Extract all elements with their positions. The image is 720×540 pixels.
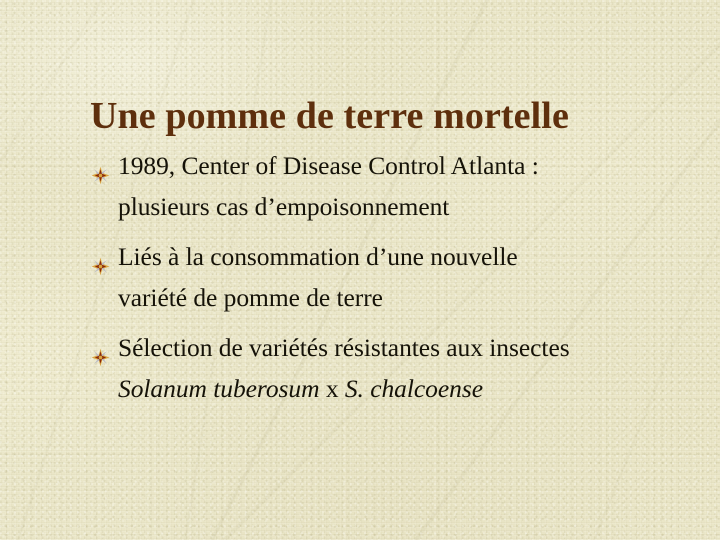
bullet-item-1: 1989, Center of Disease Control Atlanta … [90,145,702,227]
four-pointed-star-bullet-icon [91,247,110,266]
slide-canvas: Une pomme de terre mortelle 1989, Center… [0,0,720,540]
slide-title: Une pomme de terre mortelle [90,93,660,139]
bullet-line: Sélection de variétés résistantes aux in… [118,327,702,368]
bullet-line: variété de pomme de terre [118,277,702,318]
four-pointed-star-bullet-icon [91,338,110,357]
species-name-secondary: S. chalcoense [345,374,483,403]
four-pointed-star-bullet-icon [91,156,110,175]
bullet-line: plusieurs cas d’empoisonnement [118,186,702,227]
bullet-line: Liés à la consommation d’une nouvelle [118,236,702,277]
bullet-list: 1989, Center of Disease Control Atlanta … [90,145,702,418]
bullet-item-2: Liés à la consommation d’une nouvelle va… [90,236,702,318]
slide-content: Une pomme de terre mortelle 1989, Center… [0,0,720,540]
hybrid-cross-symbol-text: x [326,374,339,403]
bullet-item-3: Sélection de variétés résistantes aux in… [90,327,702,409]
bullet-line: 1989, Center of Disease Control Atlanta … [118,145,702,186]
bullet-line-species: Solanum tuberosum x S. chalcoense [118,368,702,409]
species-name-primary: Solanum tuberosum [118,374,320,403]
